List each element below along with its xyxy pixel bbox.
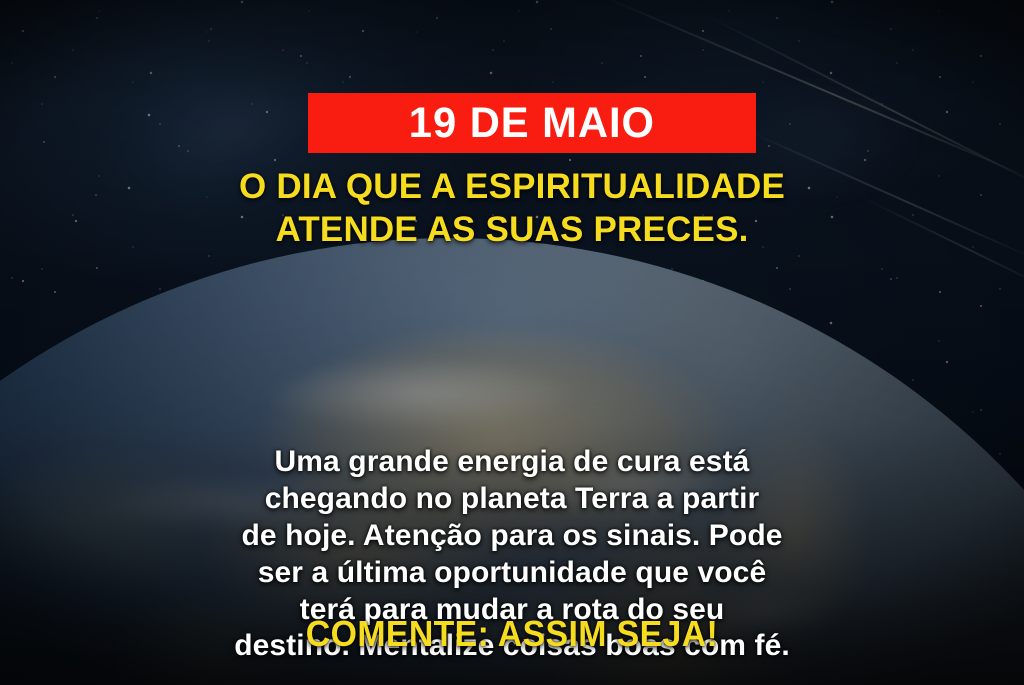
body-line-1: Uma grande energia de cura está bbox=[0, 444, 1024, 481]
body-line-4: ser a última oportunidade que você bbox=[0, 555, 1024, 592]
headline-line-1: O DIA QUE A ESPIRITUALIDADE bbox=[0, 166, 1024, 209]
headline: O DIA QUE A ESPIRITUALIDADE ATENDE AS SU… bbox=[0, 166, 1024, 251]
headline-line-2: ATENDE AS SUAS PRECES. bbox=[0, 209, 1024, 252]
poster-content: 19 DE MAIO O DIA QUE A ESPIRITUALIDADE A… bbox=[0, 0, 1024, 685]
call-to-action-text: COMENTE: ASSIM SEJA! bbox=[31, 614, 994, 654]
date-banner-label: 19 DE MAIO bbox=[409, 102, 655, 145]
body-line-2: chegando no planeta Terra a partir bbox=[0, 481, 1024, 518]
poster-canvas: 19 DE MAIO O DIA QUE A ESPIRITUALIDADE A… bbox=[0, 0, 1024, 685]
date-banner: 19 DE MAIO bbox=[308, 93, 756, 153]
body-line-3: de hoje. Atenção para os sinais. Pode bbox=[0, 518, 1024, 555]
